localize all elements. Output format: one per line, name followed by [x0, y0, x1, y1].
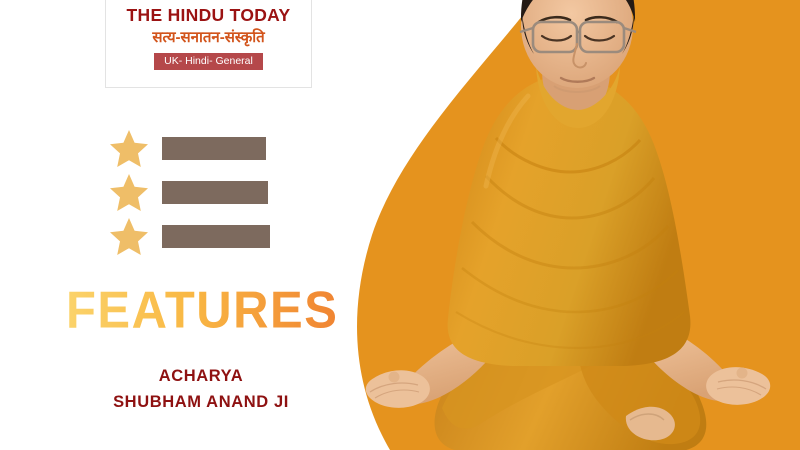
star-icon	[108, 128, 150, 168]
feature-bullet-list	[108, 126, 288, 258]
logo-title: THE HINDU TODAY	[127, 6, 291, 25]
placeholder-bar	[162, 137, 266, 160]
star-icon	[108, 216, 150, 256]
list-item	[108, 214, 288, 258]
placeholder-bar	[162, 181, 268, 204]
placeholder-bar	[162, 225, 270, 248]
publication-logo-card[interactable]: THE HINDU TODAY सत्य-सनातन-संस्कृति UK- …	[105, 0, 312, 88]
logo-category-badge: UK- Hindi- General	[154, 53, 263, 71]
features-headline: FEATURES	[66, 283, 366, 335]
speaker-name: SHUBHAM ANAND JI	[36, 389, 366, 415]
poster-canvas: THE HINDU TODAY सत्य-सनातन-संस्कृति UK- …	[0, 0, 800, 450]
features-headline-text: FEATURES	[66, 283, 338, 335]
speaker-name-block: ACHARYA SHUBHAM ANAND JI	[36, 363, 366, 416]
list-item	[108, 170, 288, 214]
list-item	[108, 126, 288, 170]
hero-image-area	[330, 0, 800, 450]
speaker-title: ACHARYA	[36, 363, 366, 389]
star-icon	[108, 172, 150, 212]
logo-subtitle-hindi: सत्य-सनातन-संस्कृति	[152, 29, 264, 46]
